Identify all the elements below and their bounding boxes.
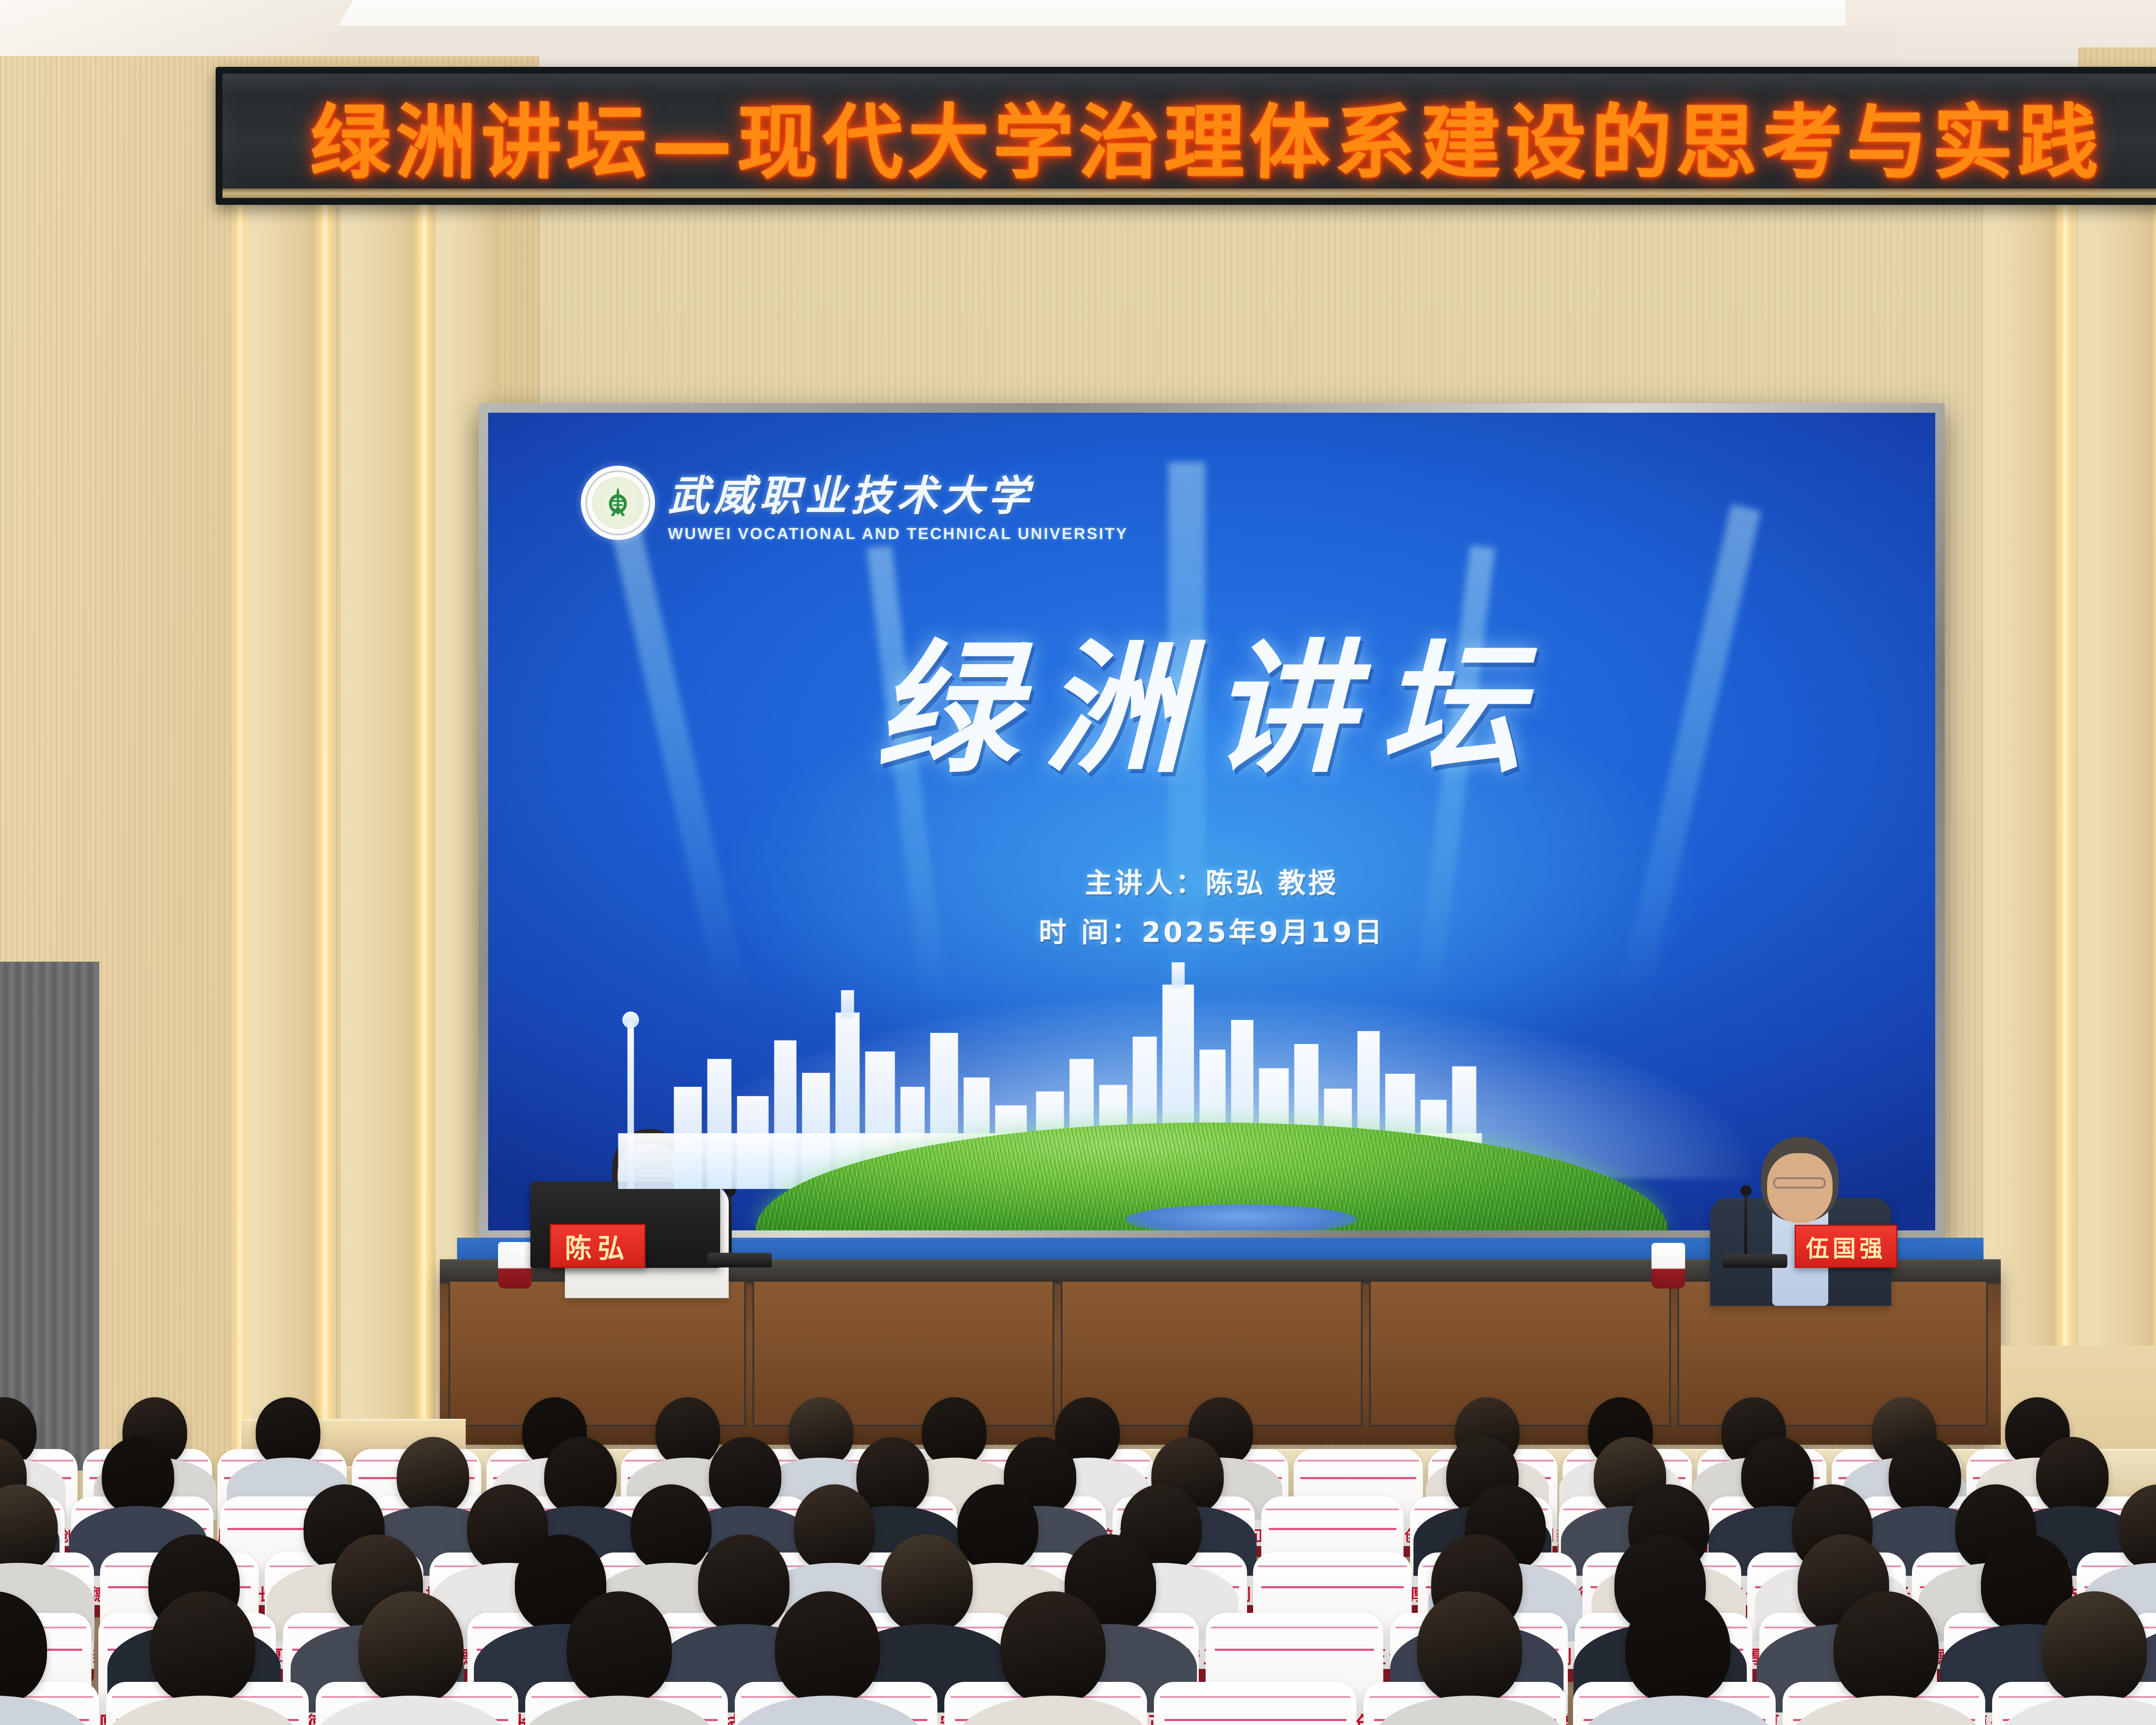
audience-member-head [1625, 1591, 1730, 1704]
audience-member-head [630, 1484, 711, 1571]
stage-wood-panel [752, 1280, 1054, 1427]
audience-chair: 厚德长技 守正创新 [1154, 1682, 1357, 1725]
wall-panel [2078, 196, 2154, 1516]
audience-member-head [881, 1534, 973, 1633]
audience-member-head [789, 1397, 853, 1466]
audience-member-head [2042, 1591, 2147, 1704]
led-light-column [313, 198, 337, 1514]
audience-member-head [102, 1437, 174, 1515]
university-name-en: WUWEI VOCATIONAL AND TECHNICAL UNIVERSIT… [668, 525, 1128, 543]
wall-panel [241, 196, 319, 1516]
led-display-frame: 武威职业技术大学 WUWEI VOCATIONAL AND TECHNICAL … [479, 403, 1945, 1240]
lecture-hall-photo: 绿洲讲坛—现代大学治理体系建设的思考与实践 [0, 0, 2156, 1725]
nameplate-left: 陈弘 [550, 1224, 646, 1268]
chair-piping [1258, 1565, 1407, 1567]
led-light-column [2151, 198, 2156, 1514]
chair-piping [1160, 1696, 1351, 1698]
audience-member-head [1000, 1591, 1106, 1704]
chair-piping [1164, 1719, 1347, 1721]
audience-member-head [1889, 1437, 1961, 1515]
audience-member-head [655, 1397, 720, 1466]
forum-main-title: 绿洲讲坛 [488, 594, 1935, 800]
chair-piping [1300, 1477, 1416, 1479]
led-light-column [2053, 198, 2078, 1514]
microphone-base-right [1723, 1254, 1787, 1268]
audience-member-head [150, 1591, 255, 1704]
audience-member-head [256, 1397, 320, 1466]
university-name-cn: 武威职业技术大学 [668, 462, 1128, 522]
led-display-screen: 武威职业技术大学 WUWEI VOCATIONAL AND TECHNICAL … [488, 413, 1935, 1230]
audience-member-head [2036, 1437, 2109, 1515]
chair-piping [1211, 1627, 1378, 1628]
university-name-block: 武威职业技术大学 WUWEI VOCATIONAL AND TECHNICAL … [668, 462, 1128, 543]
paper-cup [498, 1242, 532, 1289]
paper-cup [1651, 1243, 1685, 1289]
audience-member-head [922, 1397, 987, 1466]
chair-piping [1261, 1586, 1404, 1588]
audience-member-head [698, 1534, 790, 1633]
chair-piping [1269, 1528, 1397, 1530]
speaker-line: 主讲人：陈弘 教授 [488, 861, 1935, 901]
date-line: 时 间：2025年9月19日 [488, 910, 1935, 950]
side-curtain [0, 962, 99, 1471]
seal-ring [586, 470, 650, 535]
audience-member-head [775, 1591, 880, 1704]
audience-member-head [397, 1437, 469, 1515]
chair-piping [1297, 1460, 1419, 1462]
microphone-base-left [707, 1253, 772, 1267]
university-logo-lockup: 武威职业技术大学 WUWEI VOCATIONAL AND TECHNICAL … [581, 462, 1128, 543]
audience-member-head [1833, 1591, 1939, 1704]
microphone-stalk-right [1744, 1190, 1747, 1264]
university-seal-icon [581, 466, 655, 540]
wall-panel [341, 196, 418, 1516]
audience-member-head [544, 1437, 617, 1515]
eyeglasses-icon [1773, 1177, 1826, 1189]
oasis-water [1125, 1204, 1357, 1230]
led-scrolling-banner: 绿洲讲坛—现代大学治理体系建设的思考与实践 [216, 67, 2156, 205]
led-light-column [412, 198, 436, 1514]
nameplate-right: 伍国强 [1795, 1225, 1897, 1268]
chair-piping [1215, 1649, 1375, 1651]
audience-member-head [1417, 1591, 1522, 1704]
led-light-column [230, 198, 250, 1514]
banner-text: 绿洲讲坛—现代大学治理体系建设的思考与实践 [310, 78, 2105, 194]
microphone-head-right [1740, 1185, 1752, 1196]
chair-piping [1266, 1509, 1399, 1510]
audience-member-head [709, 1437, 781, 1515]
audience-member-head [794, 1484, 875, 1571]
audience-member-head [957, 1484, 1038, 1571]
audience-member-head [567, 1591, 672, 1704]
audience-member-head [358, 1591, 464, 1704]
forum-details: 主讲人：陈弘 教授 时 间：2025年9月19日 [488, 861, 1935, 960]
